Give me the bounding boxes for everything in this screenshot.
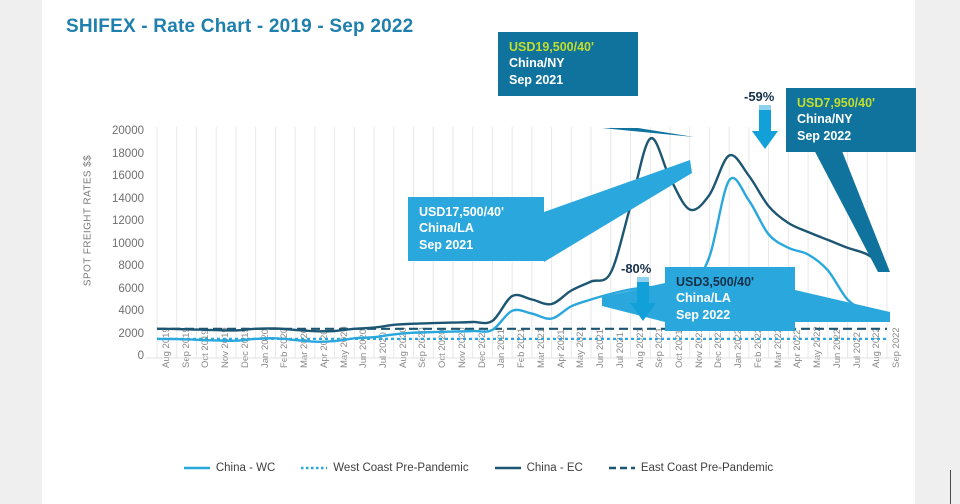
- legend-swatch-solid: [184, 463, 210, 473]
- callout-lane: China/LA: [419, 220, 533, 236]
- callout-date: Sep 2022: [676, 307, 784, 323]
- callout-date: Sep 2021: [419, 237, 533, 253]
- callout-china-ny-2021[interactable]: USD19,500/40' China/NY Sep 2021: [498, 32, 638, 96]
- legend-swatch-dashed: [609, 463, 635, 473]
- callout-pointer-china-ny-2021: [602, 128, 694, 137]
- callout-pointer-china-ny-2022: [812, 146, 890, 272]
- legend-item[interactable]: China - WC: [184, 462, 275, 474]
- callout-rate: USD3,500/40': [676, 274, 784, 290]
- legend-item[interactable]: West Coast Pre-Pandemic: [301, 462, 468, 474]
- chart-legend: China - WCWest Coast Pre-PandemicChina -…: [42, 462, 915, 474]
- callout-date: Sep 2021: [509, 72, 627, 88]
- callout-lane: China/LA: [676, 290, 784, 306]
- legend-swatch-dotted: [301, 463, 327, 473]
- callout-rate: USD19,500/40': [509, 39, 627, 55]
- legend-label: East Coast Pre-Pandemic: [641, 462, 773, 474]
- legend-label: West Coast Pre-Pandemic: [333, 462, 468, 474]
- callout-rate: USD17,500/40': [419, 204, 533, 220]
- callout-china-ny-2022[interactable]: USD7,950/40' China/NY Sep 2022: [786, 88, 916, 152]
- callout-rate: USD7,950/40': [797, 95, 905, 111]
- down-arrow-icon-wc: [630, 277, 656, 323]
- callout-lane: China/NY: [797, 111, 905, 127]
- frame-tick-mark: [950, 470, 951, 504]
- annotation-drop-wc: -80%: [621, 261, 651, 276]
- legend-item[interactable]: East Coast Pre-Pandemic: [609, 462, 773, 474]
- callout-china-la-2022[interactable]: USD3,500/40' China/LA Sep 2022: [665, 267, 795, 331]
- legend-label: China - WC: [216, 462, 275, 474]
- legend-swatch-solid: [495, 463, 521, 473]
- down-arrow-icon-ec: [752, 105, 778, 151]
- annotation-drop-ec: -59%: [744, 89, 774, 104]
- legend-item[interactable]: China - EC: [495, 462, 583, 474]
- screenshot-root: SHIFEX - Rate Chart - 2019 - Sep 2022 SP…: [0, 0, 960, 504]
- callout-china-la-2021[interactable]: USD17,500/40' China/LA Sep 2021: [408, 197, 544, 261]
- legend-label: China - EC: [527, 462, 583, 474]
- callout-lane: China/NY: [509, 55, 627, 71]
- callout-date: Sep 2022: [797, 128, 905, 144]
- chart-slide: SHIFEX - Rate Chart - 2019 - Sep 2022 SP…: [42, 0, 915, 504]
